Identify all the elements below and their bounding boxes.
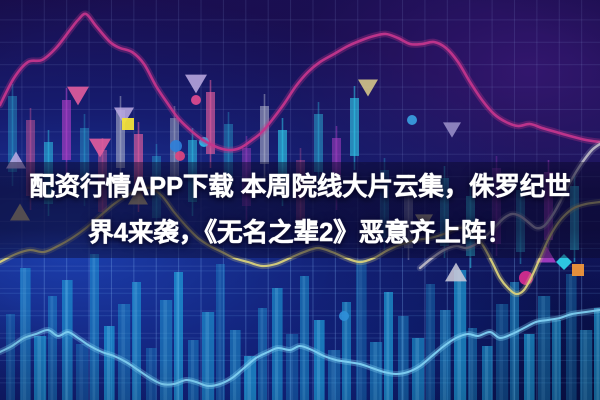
headline-line-1: 配资行情APP下载 本周院线大片云集，侏罗纪世 bbox=[29, 165, 570, 209]
headline-block: 配资行情APP下载 本周院线大片云集，侏罗纪世 界4来袭，《无名之辈2》恶意齐上… bbox=[0, 163, 600, 257]
headline-line-2: 界4来袭，《无名之辈2》恶意齐上阵！ bbox=[88, 211, 512, 255]
promo-banner: 配资行情APP下载 本周院线大片云集，侏罗纪世 界4来袭，《无名之辈2》恶意齐上… bbox=[0, 0, 600, 400]
